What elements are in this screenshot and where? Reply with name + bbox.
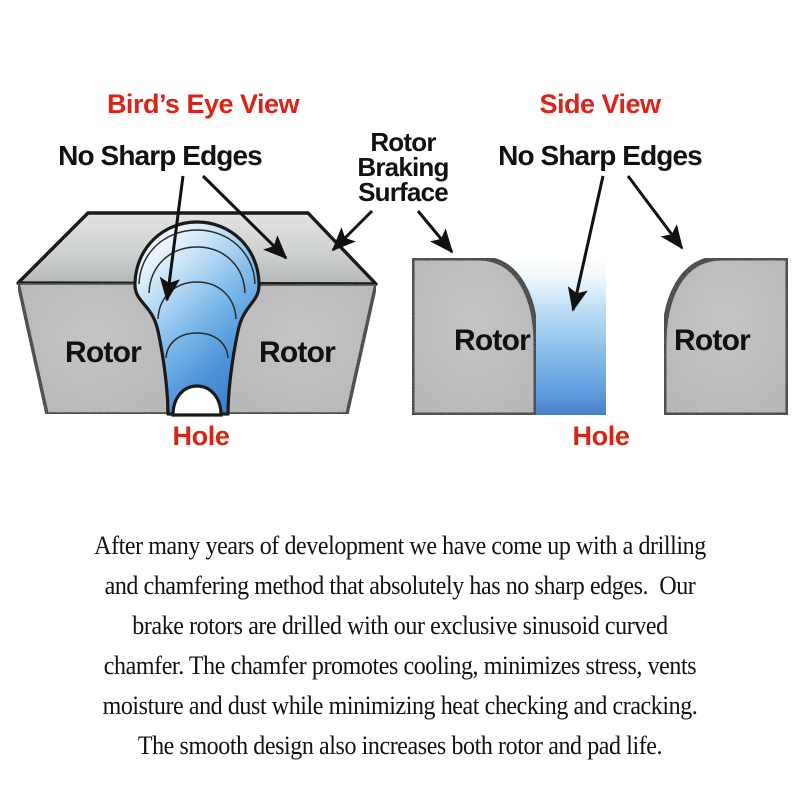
birds-eye-no-sharp-edges-label: No Sharp Edges [58, 140, 262, 171]
side-view-no-sharp-edges-label: No Sharp Edges [498, 140, 702, 171]
side-view-hole-label: Hole [573, 421, 630, 451]
figure-layer: Bird’s Eye View [0, 0, 800, 480]
side-view-hole-column-wide [560, 258, 606, 415]
braking-surface-arrow-left [333, 211, 372, 250]
caption-line: and chamfering method that absolutely ha… [38, 565, 762, 605]
braking-surface-label: Rotor Braking Surface [357, 127, 448, 207]
birds-eye-diagram: Bird’s Eye View [18, 89, 452, 451]
side-view-title: Side View [539, 89, 662, 119]
birds-eye-title: Bird’s Eye View [107, 89, 301, 119]
diagram-page: Bird’s Eye View [0, 0, 800, 800]
side-view-diagram: Side View Rotor Rotor Hole No Sharp Edge… [412, 89, 788, 451]
birds-eye-rotor-left-label: Rotor [65, 336, 142, 369]
braking-surface-line-3: Surface [358, 177, 448, 207]
side-view-arrow-right [628, 176, 682, 248]
caption-line: moisture and dust while minimizing heat … [38, 685, 762, 725]
side-view-rotor-left-label: Rotor [454, 324, 531, 357]
side-view-rotor-right-label: Rotor [674, 324, 751, 357]
caption-line: After many years of development we have … [38, 525, 762, 565]
birds-eye-rotor-right-label: Rotor [259, 336, 336, 369]
caption-line: brake rotors are drilled with our exclus… [38, 605, 762, 645]
description-paragraph: After many years of development we have … [38, 525, 762, 765]
braking-surface-arrow-right [418, 211, 452, 252]
caption-line: The smooth design also increases both ro… [38, 725, 762, 765]
caption-line: chamfer. The chamfer promotes cooling, m… [38, 645, 762, 685]
birds-eye-hole-label: Hole [173, 421, 230, 451]
